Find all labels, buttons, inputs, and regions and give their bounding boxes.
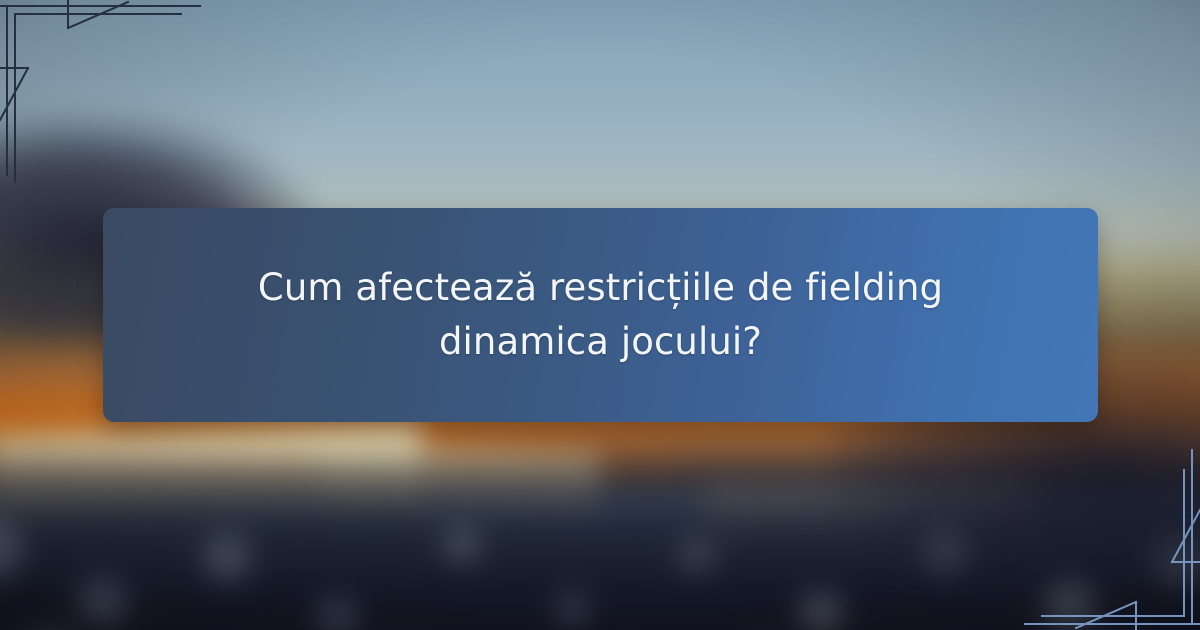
quote-title: Cum afectează restricțiile de fielding d… [173,261,1028,370]
quote-card: Cum afectează restricțiile de fielding d… [103,208,1098,422]
social-card-canvas: Cum afectează restricțiile de fielding d… [0,0,1200,630]
